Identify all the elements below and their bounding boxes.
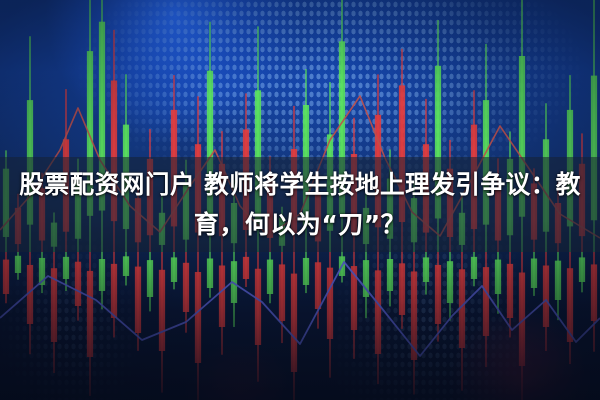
headline-band: 股票配资网门户 教师将学生按地上理发引争议：教 育，何以为“刀”？ [0, 157, 600, 252]
headline-line-1: 股票配资网门户 教师将学生按地上理发引争议：教 [19, 165, 581, 205]
headline-line-2: 育，何以为“刀”？ [194, 205, 406, 245]
stock-news-banner: 股票配资网门户 教师将学生按地上理发引争议：教 育，何以为“刀”？ [0, 0, 600, 400]
